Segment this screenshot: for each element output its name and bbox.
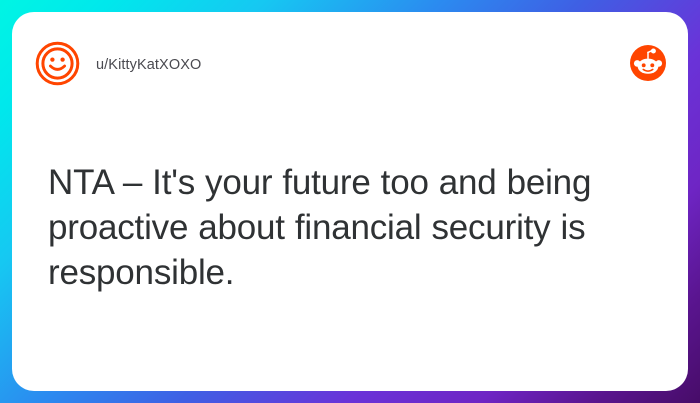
avatar[interactable] [35,41,80,86]
smiley-face-icon [35,41,80,86]
comment-body-text: NTA – It's your future too and being pro… [48,160,648,295]
reddit-logo[interactable] [630,45,666,81]
reddit-snoo-icon [630,45,666,81]
username-label[interactable]: u/KittyKatXOXO [96,55,201,75]
reddit-comment-card: u/KittyKatXOXO [12,12,688,391]
card-header: u/KittyKatXOXO [12,12,688,108]
screenshot-canvas: u/KittyKatXOXO [0,0,700,403]
